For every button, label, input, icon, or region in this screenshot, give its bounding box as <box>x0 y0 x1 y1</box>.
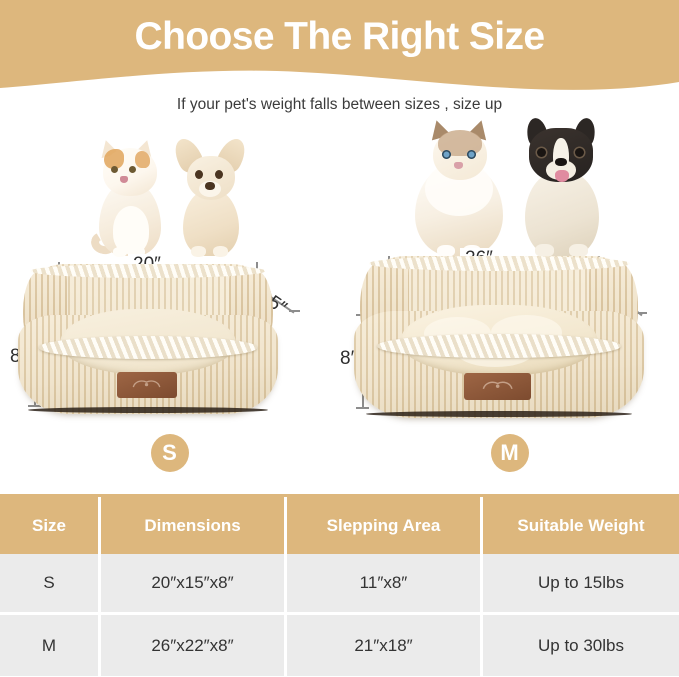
size-panel-medium: 26″ 22″ 8″ <box>340 116 679 490</box>
dog-illustration <box>513 120 609 256</box>
pets-group-medium <box>340 116 679 256</box>
table-header-suitable-weight: Suitable Weight <box>483 497 679 554</box>
size-guide-page: Choose The Right Size If your pet's weig… <box>0 0 679 677</box>
pet-bed-small <box>18 264 278 414</box>
brand-tag <box>464 373 531 401</box>
product-panels: 20″ 15″ 8″ <box>0 116 679 490</box>
table-header-row: Size Dimensions Slepping Area Suitable W… <box>0 497 679 554</box>
cell-sleeping-area: 11″x8″ <box>287 554 483 615</box>
table-body: S 20″x15″x8″ 11″x8″ Up to 15lbs M 26″x22… <box>0 554 679 676</box>
page-title: Choose The Right Size <box>0 14 679 60</box>
dog-illustration <box>173 138 247 256</box>
table-header: Size Dimensions Slepping Area Suitable W… <box>0 497 679 554</box>
bed-illustration-small: 20″ 15″ 8″ <box>0 258 339 428</box>
page-header: Choose The Right Size <box>0 0 679 98</box>
size-table: Size Dimensions Slepping Area Suitable W… <box>0 494 679 676</box>
cell-sleeping-area: 21″x18″ <box>287 615 483 676</box>
size-badge-small[interactable]: S <box>151 434 189 472</box>
table-header-size: Size <box>0 497 101 554</box>
bed-illustration-medium: 26″ 22″ 8″ <box>340 254 679 434</box>
cat-illustration <box>93 138 167 256</box>
size-badge-row-small: S <box>0 434 339 472</box>
bed-rope-trim <box>39 336 257 359</box>
depth-dimension-cap-bottom <box>289 310 300 312</box>
size-panel-small: 20″ 15″ 8″ <box>0 116 339 490</box>
pet-bed-medium <box>354 256 644 418</box>
bed-rope-trim-top <box>369 256 630 271</box>
cat-illustration <box>411 120 507 256</box>
bed-rope-trim <box>377 334 621 358</box>
size-badge-medium[interactable]: M <box>491 434 529 472</box>
cell-suitable-weight: Up to 30lbs <box>483 615 679 676</box>
cell-dimensions: 26″x22″x8″ <box>101 615 287 676</box>
cell-size: M <box>0 615 101 676</box>
brand-logo-icon <box>128 378 165 391</box>
brand-logo-icon <box>477 379 518 393</box>
brand-tag <box>117 372 177 398</box>
bed-rope-trim-top <box>31 264 265 278</box>
cell-suitable-weight: Up to 15lbs <box>483 554 679 615</box>
table-row: M 26″x22″x8″ 21″x18″ Up to 30lbs <box>0 615 679 676</box>
table-row: S 20″x15″x8″ 11″x8″ Up to 15lbs <box>0 554 679 615</box>
table-header-dimensions: Dimensions <box>101 497 287 554</box>
cell-size: S <box>0 554 101 615</box>
subtitle-text: If your pet's weight falls between sizes… <box>0 94 679 116</box>
cell-dimensions: 20″x15″x8″ <box>101 554 287 615</box>
pets-group-small <box>0 130 339 256</box>
table-header-sleeping-area: Slepping Area <box>287 497 483 554</box>
size-badge-row-medium: M <box>340 434 679 472</box>
